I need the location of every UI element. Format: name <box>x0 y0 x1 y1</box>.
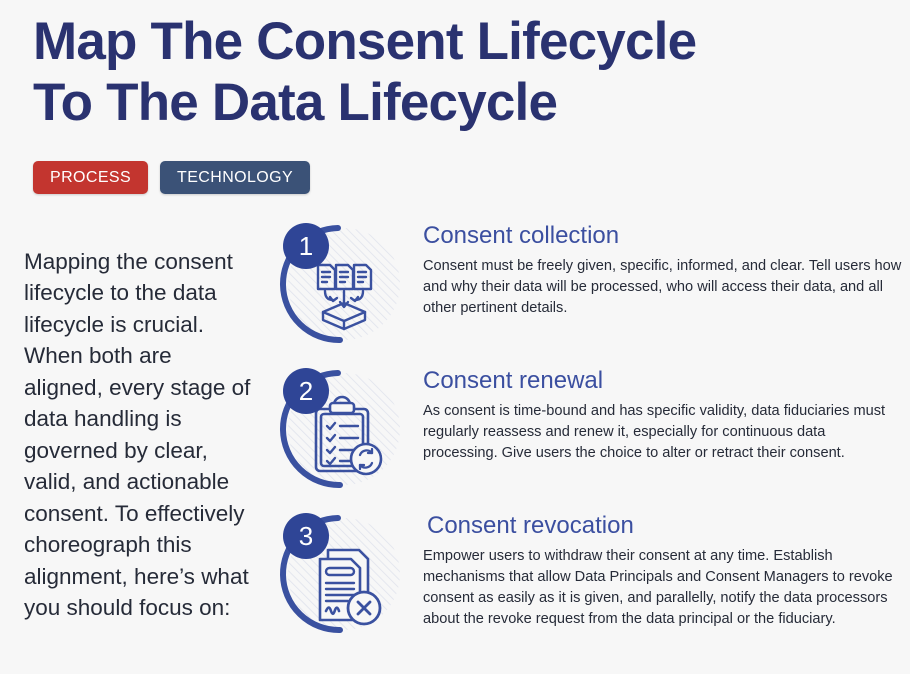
step-1-text: Consent must be freely given, specific, … <box>423 256 903 319</box>
revoke-x-badge-glyph <box>348 592 380 624</box>
step-3-body: Consent revocation Empower users to with… <box>423 510 910 630</box>
step-item-1: Consent collection Consent must be freel… <box>278 220 910 340</box>
step-item-2: Consent renewal As consent is time-bound… <box>278 365 910 485</box>
step-2-heading: Consent renewal <box>423 367 910 395</box>
documents-into-box-icon <box>278 220 406 348</box>
hatched-circle-bg <box>288 373 400 485</box>
intro-paragraph: Mapping the consent lifecycle to the dat… <box>24 246 256 624</box>
badge-process[interactable]: PROCESS <box>33 161 148 194</box>
page-title-line-1: Map The Consent Lifecycle <box>33 12 696 71</box>
badge-technology[interactable]: TECHNOLOGY <box>160 161 310 194</box>
step-1-icon-group <box>278 220 406 348</box>
document-revoke-x-icon <box>278 510 406 638</box>
steps-list: Consent collection Consent must be freel… <box>278 218 910 630</box>
step-2-text: As consent is time-bound and has specifi… <box>423 401 903 464</box>
step-1-heading: Consent collection <box>423 222 910 250</box>
step-3-heading: Consent revocation <box>423 512 910 540</box>
category-badge-row: PROCESS TECHNOLOGY <box>33 161 310 194</box>
step-2-icon-group <box>278 365 406 493</box>
step-1-body: Consent collection Consent must be freel… <box>423 220 910 319</box>
step-2-body: Consent renewal As consent is time-bound… <box>423 365 910 464</box>
page-header: Map The Consent Lifecycle To The Data Li… <box>33 12 863 134</box>
step-3-text: Empower users to withdraw their consent … <box>423 546 903 630</box>
refresh-badge-glyph <box>351 444 381 474</box>
infographic-page: { "header": { "title_line1": "Map The Co… <box>0 0 910 674</box>
step-item-3: Consent revocation Empower users to with… <box>278 510 910 630</box>
page-title: Map The Consent Lifecycle To The Data Li… <box>33 12 863 134</box>
page-title-line-2: To The Data Lifecycle <box>33 73 863 134</box>
clipboard-checklist-refresh-icon <box>278 365 406 493</box>
step-3-icon-group <box>278 510 406 638</box>
